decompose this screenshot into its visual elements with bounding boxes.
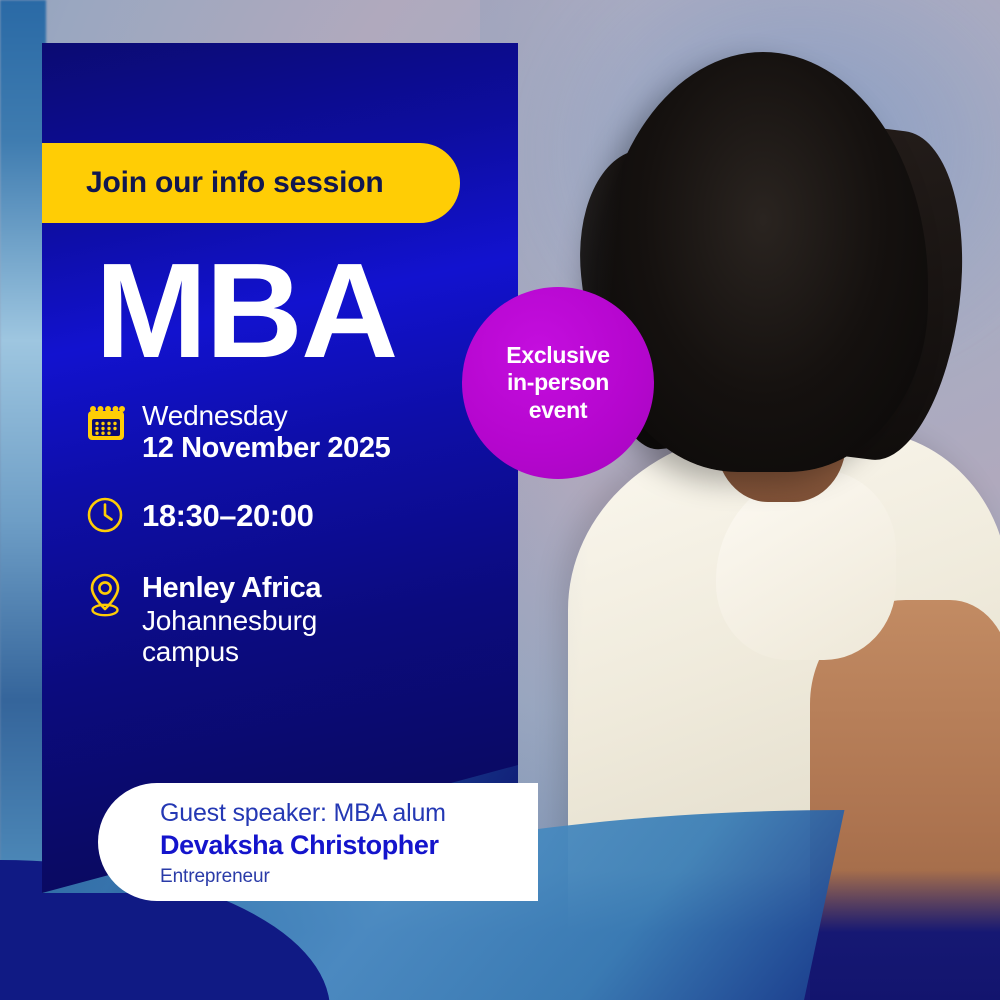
guest-speaker-card: Guest speaker: MBA alum Devaksha Christo… <box>98 783 538 901</box>
info-session-pill: Join our info session <box>42 143 460 223</box>
detail-row-date: Wednesday 12 November 2025 <box>84 400 484 466</box>
speaker-role: Entrepreneur <box>160 866 538 888</box>
detail-row-time: 18:30–20:00 <box>84 492 484 543</box>
location-pin-icon <box>84 569 142 628</box>
venue-name: Henley Africa <box>142 571 321 605</box>
badge-line-1: Exclusive <box>506 342 609 369</box>
pill-label: Join our info session <box>86 166 384 200</box>
speaker-name: Devaksha Christopher <box>160 829 538 861</box>
detail-text-location: Henley Africa Johannesburg campus <box>142 569 321 668</box>
event-details-list: Wednesday 12 November 2025 18:30–20:00 <box>84 400 484 694</box>
venue-campus: campus <box>142 636 321 667</box>
event-day: Wednesday <box>142 400 390 431</box>
clock-icon <box>84 492 142 543</box>
badge-line-2: in-person <box>506 369 609 396</box>
calendar-icon <box>84 400 142 451</box>
detail-row-location: Henley Africa Johannesburg campus <box>84 569 484 668</box>
speaker-intro: Guest speaker: MBA alum <box>160 799 538 829</box>
background-left-strip <box>0 0 46 1000</box>
event-date: 12 November 2025 <box>142 431 390 465</box>
venue-city: Johannesburg <box>142 605 321 636</box>
event-time: 18:30–20:00 <box>142 498 313 535</box>
detail-text-time: 18:30–20:00 <box>142 492 313 535</box>
badge-line-3: event <box>506 397 609 424</box>
detail-text-date: Wednesday 12 November 2025 <box>142 400 390 466</box>
event-promo-poster: Join our info session MBA <box>0 0 1000 1000</box>
status-badge: Exclusive in-person event <box>462 287 654 479</box>
page-title: MBA <box>95 243 396 378</box>
badge-text: Exclusive in-person event <box>506 342 609 423</box>
